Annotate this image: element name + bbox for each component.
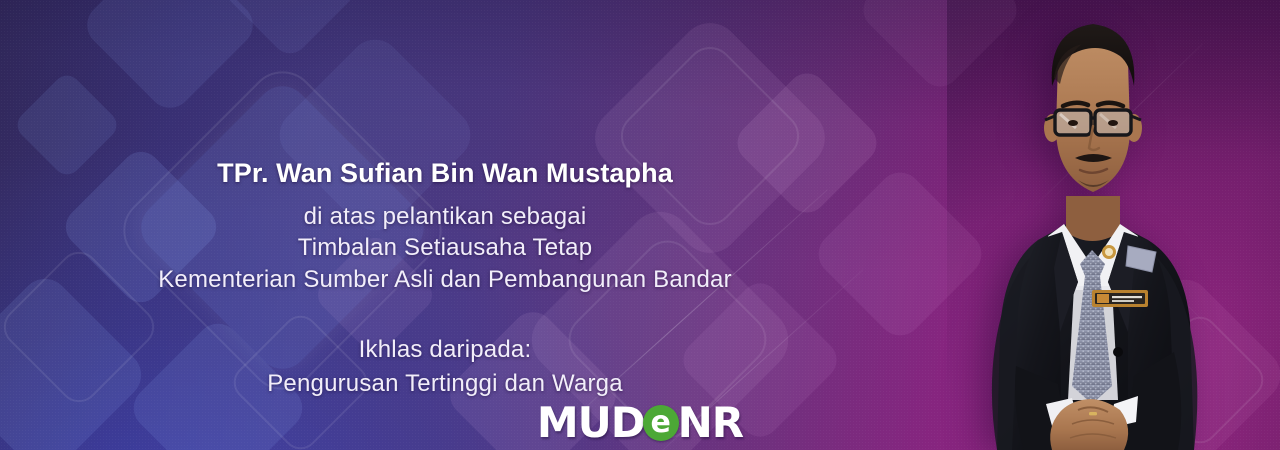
text-block: TPr. Wan Sufian Bin Wan Mustapha di atas… xyxy=(0,0,890,450)
honoree-name: TPr. Wan Sufian Bin Wan Mustapha xyxy=(0,158,890,189)
jacket-button xyxy=(1113,347,1123,357)
logo-text-part1: MUD xyxy=(537,402,645,444)
mudenr-logo: MUD e NR xyxy=(0,402,1280,444)
appointment-line-1: di atas pelantikan sebagai xyxy=(0,203,890,231)
appointment-line-2: Timbalan Setiausaha Tetap xyxy=(0,234,890,262)
logo-accent-e: e xyxy=(643,405,679,441)
appointment-line-3: Kementerian Sumber Asli dan Pembangunan … xyxy=(0,266,890,294)
name-tag xyxy=(1092,290,1148,307)
congratulation-banner: TPr. Wan Sufian Bin Wan Mustapha di atas… xyxy=(0,0,1280,450)
portrait-photo xyxy=(942,0,1242,450)
sender-intro-line: Ikhlas daripada: xyxy=(0,336,890,364)
sender-line: Pengurusan Tertinggi dan Warga xyxy=(0,370,890,398)
logo-text-part2: NR xyxy=(678,402,744,444)
